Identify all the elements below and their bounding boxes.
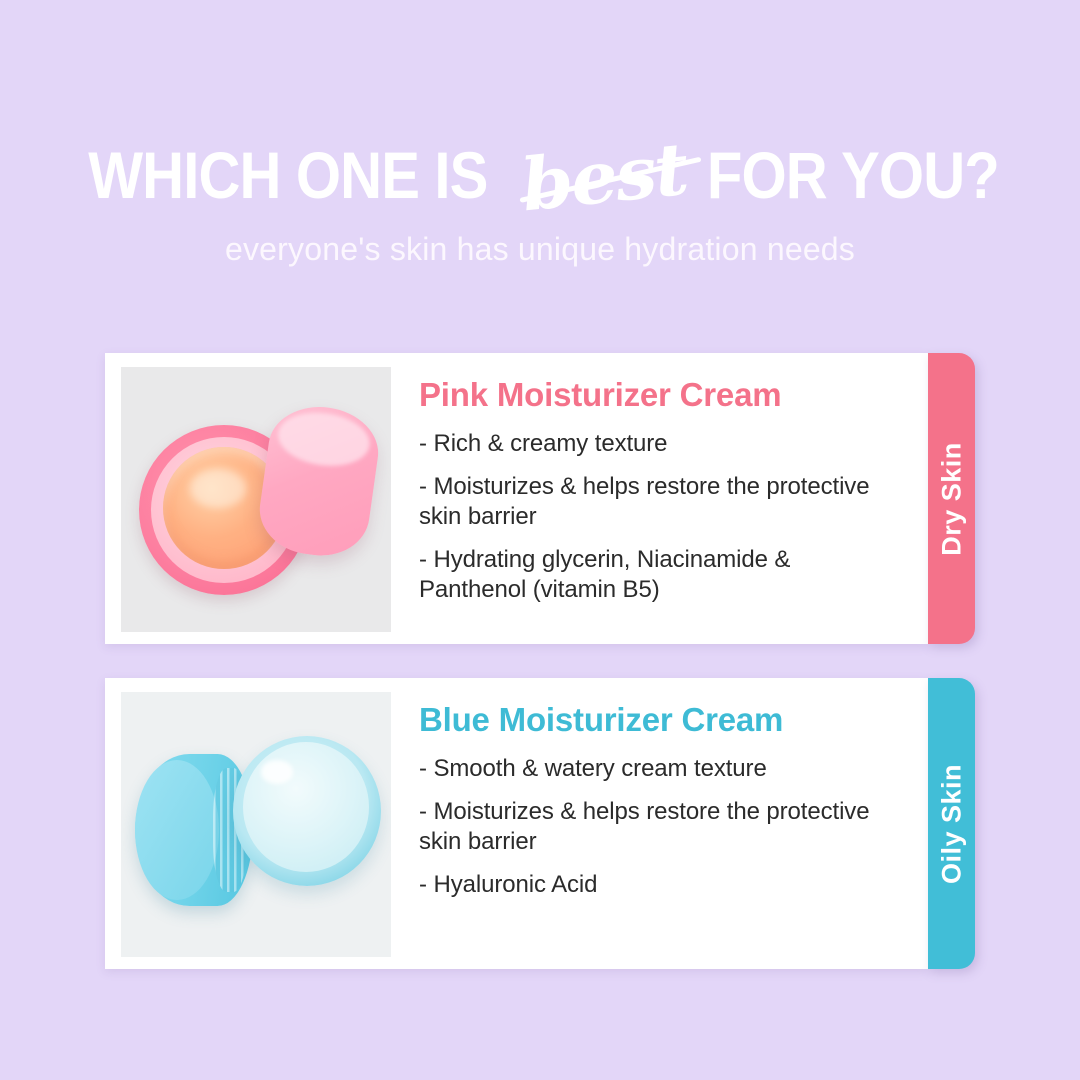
pink-jar-lid-icon bbox=[254, 400, 384, 562]
page-subtitle: everyone's skin has unique hydration nee… bbox=[0, 228, 1080, 270]
skin-type-tab-label: Dry Skin bbox=[936, 442, 967, 556]
skin-type-tab-oily[interactable]: Oily Skin bbox=[928, 678, 975, 969]
product-title-blue: Blue Moisturizer Cream bbox=[419, 700, 898, 740]
product-photo-blue bbox=[121, 692, 391, 957]
skin-type-tab-dry[interactable]: Dry Skin bbox=[928, 353, 975, 644]
product-card-blue[interactable]: Blue Moisturizer Cream - Smooth & watery… bbox=[105, 678, 928, 969]
header: WHICH ONE ISbestFOR YOU? everyone's skin… bbox=[0, 0, 1080, 330]
product-bullet: - Rich & creamy texture bbox=[419, 429, 898, 459]
product-bullet: - Hydrating glycerin, Niacinamide & Pant… bbox=[419, 545, 898, 605]
blue-jar-gel-icon bbox=[243, 742, 369, 872]
product-bullet: - Hyaluronic Acid bbox=[419, 870, 898, 900]
headline-part-2: FOR YOU? bbox=[707, 138, 999, 212]
product-card-pink[interactable]: Pink Moisturizer Cream - Rich & creamy t… bbox=[105, 353, 928, 644]
product-title-pink: Pink Moisturizer Cream bbox=[419, 375, 898, 415]
headline-part-1: WHICH ONE IS bbox=[89, 138, 488, 212]
product-details-blue: Blue Moisturizer Cream - Smooth & watery… bbox=[391, 692, 928, 957]
page-title: WHICH ONE ISbestFOR YOU? bbox=[0, 136, 1080, 212]
product-details-pink: Pink Moisturizer Cream - Rich & creamy t… bbox=[391, 367, 928, 632]
headline-script-word: best bbox=[518, 132, 690, 223]
product-photo-pink bbox=[121, 367, 391, 632]
product-bullet: - Moisturizes & helps restore the protec… bbox=[419, 797, 898, 857]
product-bullet: - Smooth & watery cream texture bbox=[419, 754, 898, 784]
product-bullet: - Moisturizes & helps restore the protec… bbox=[419, 472, 898, 532]
skin-type-tab-label: Oily Skin bbox=[936, 763, 967, 883]
